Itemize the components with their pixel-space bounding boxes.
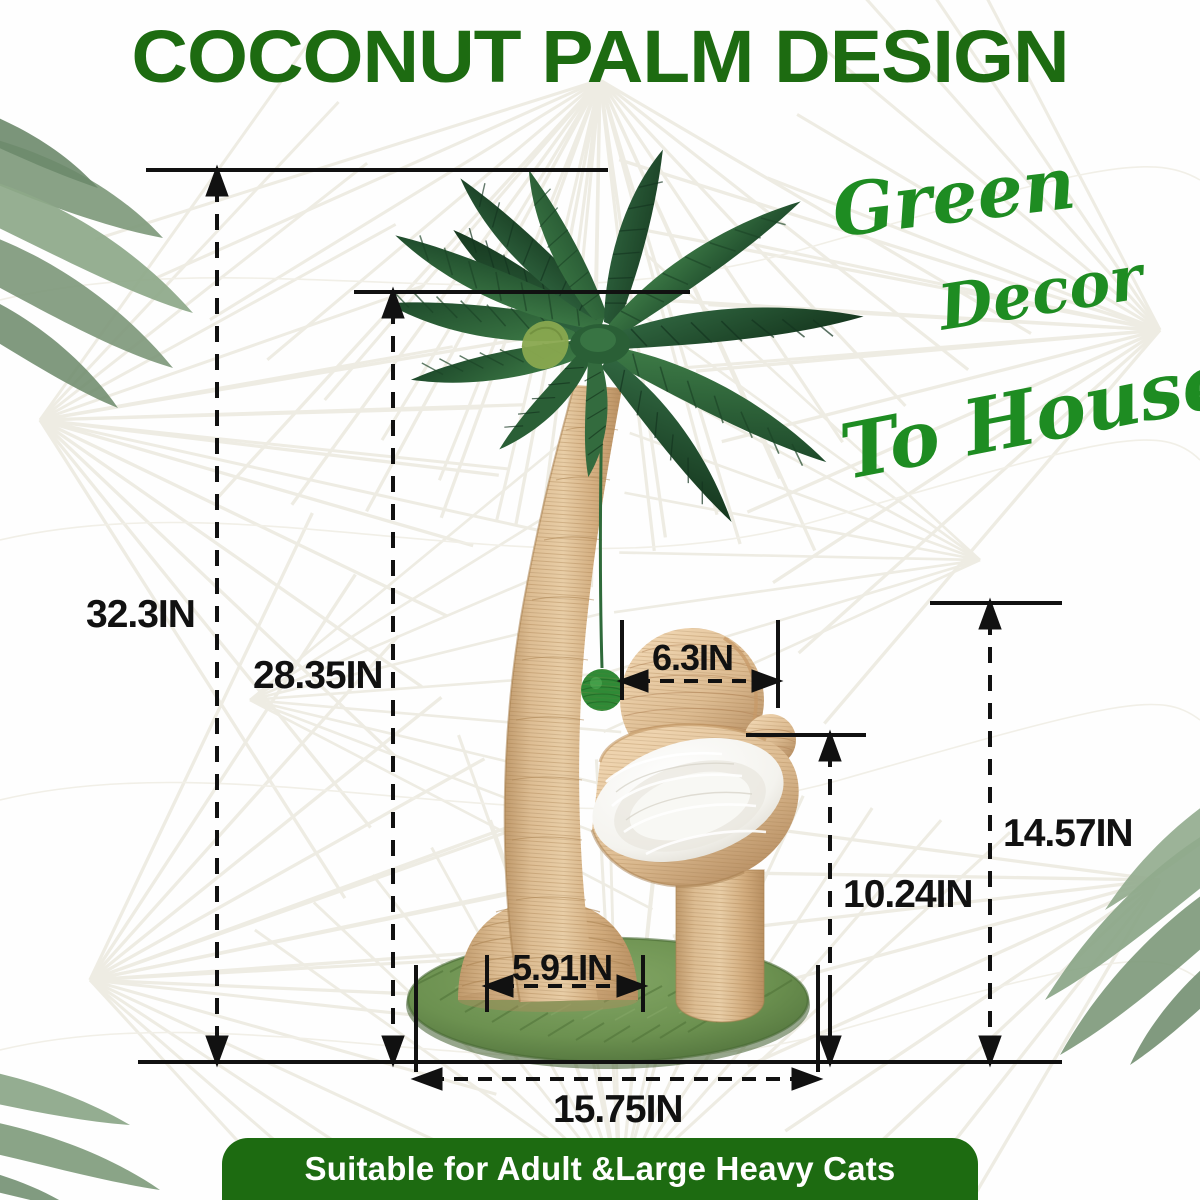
- decorative-leaf-bottom-left: [0, 1020, 180, 1200]
- product-palm-fronds: [386, 146, 867, 526]
- product-sisal-trunk: [505, 385, 622, 1002]
- script-line-3: To House!: [833, 328, 1200, 497]
- suitability-banner: Suitable for Adult &Large Heavy Cats: [222, 1138, 978, 1200]
- script-tagline: Green Decor To House!: [810, 150, 1170, 500]
- product-coconut-bed: [578, 628, 799, 886]
- dimension-label-dome-diameter: 5.91IN: [512, 947, 612, 989]
- dimension-label-base-diameter: 15.75IN: [553, 1088, 683, 1132]
- dimension-label-bed-diameter: 6.3IN: [652, 637, 733, 679]
- infographic-canvas: COCONUT PALM DESIGN Green Decor To Ho: [0, 0, 1200, 1200]
- script-line-1: Green: [828, 139, 1080, 253]
- page-title: COCONUT PALM DESIGN: [0, 18, 1200, 96]
- decorative-leaf-top-left: [0, 108, 258, 438]
- dimension-label-bed-height: 10.24IN: [843, 873, 973, 917]
- suitability-banner-text: Suitable for Adult &Large Heavy Cats: [305, 1150, 896, 1188]
- dimension-label-trunk-height: 28.35IN: [253, 654, 383, 698]
- product-sisal-post: [676, 870, 764, 1022]
- product-sisal-dome: [458, 900, 638, 1012]
- dimension-label-bed-assembly: 14.57IN: [1003, 812, 1133, 856]
- decorative-leaf-right: [990, 800, 1200, 1100]
- dimension-label-overall-height: 32.3IN: [86, 593, 195, 637]
- script-line-2: Decor: [934, 240, 1148, 344]
- product-hanging-ball-toy: [581, 400, 623, 711]
- product-base-mat: [406, 938, 810, 1069]
